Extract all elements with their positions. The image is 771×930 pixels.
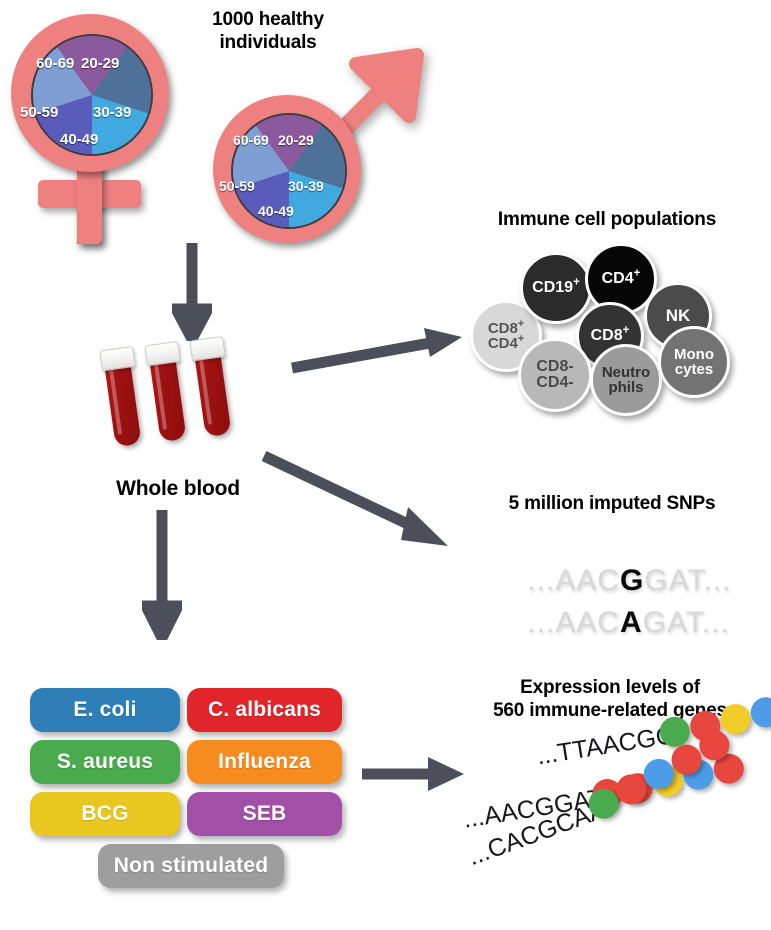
cell-label-line2: CD4- <box>536 375 573 391</box>
immune-cell-cd8neg-cd4neg: CD8-CD4- <box>518 338 592 412</box>
male-pie-label-50-59: 50-59 <box>219 178 255 194</box>
immune-cell-neutrophils: Neutrophils <box>590 344 662 416</box>
whole-blood-label: Whole blood <box>88 476 268 502</box>
immune-cells-cluster: CD8+CD4+ CD19+ CD4+ NK CD8+ CD8-CD4- Neu… <box>460 240 760 420</box>
snp-variant-allele: A <box>620 606 643 639</box>
female-pie-label-50-59: 50-59 <box>20 104 58 121</box>
snps-heading: 5 million imputed SNPs <box>462 492 762 515</box>
snp-suffix: GAT... <box>643 606 730 639</box>
blood-tube <box>147 341 193 444</box>
female-pie-label-20-29: 20-29 <box>81 55 119 72</box>
whole-blood-tubes <box>108 335 258 455</box>
arrow-down-icon <box>172 243 212 341</box>
cell-label: CD4+ <box>602 271 641 287</box>
arrow-right-icon <box>360 750 470 800</box>
arrow-blood-to-snps <box>262 450 462 560</box>
arrow-right-down-icon <box>262 450 462 560</box>
arrow-blood-to-stimuli <box>142 510 182 640</box>
arrow-right-up-icon <box>290 320 470 380</box>
immune-cells-heading: Immune cell populations <box>452 208 762 231</box>
cohort-title: 1000 healthy individuals <box>178 8 358 54</box>
blood-tube <box>192 336 238 439</box>
cell-label-line1: CD8- <box>536 359 573 375</box>
female-pie-label-60-69: 60-69 <box>36 55 74 72</box>
snp-row: ...AACAGAT... <box>490 572 730 674</box>
male-gender-symbol: 20-29 30-39 40-49 50-59 60-69 <box>205 50 425 245</box>
cell-label-line1: Mono <box>674 347 714 362</box>
mrna-strands: ...TTAACGG ...AACGGAT ...CACGCAA <box>460 740 771 910</box>
arrow-blood-to-immune-cells <box>290 320 470 380</box>
stimuli-panel: E. coli C. albicans S. aureus Influenza … <box>30 688 340 898</box>
stimulus-pill-influenza[interactable]: Influenza <box>187 740 342 784</box>
stimulus-pill-c-albicans[interactable]: C. albicans <box>187 688 342 732</box>
male-pie-label-20-29: 20-29 <box>278 132 314 148</box>
male-pie-label-60-69: 60-69 <box>233 132 269 148</box>
immune-cell-monocytes: Monocytes <box>658 326 730 398</box>
snp-sequences: ...AACGGAT... ...AACAGAT... <box>480 528 760 618</box>
snp-prefix: ...AAC <box>527 606 620 639</box>
male-pie-label-40-49: 40-49 <box>258 203 294 219</box>
female-gender-symbol: 20-29 30-39 40-49 50-59 60-69 <box>8 14 198 246</box>
stimulus-pill-non-stimulated[interactable]: Non stimulated <box>98 844 284 888</box>
cell-label-line2: CD4+ <box>488 336 524 351</box>
stimulus-pill-e-coli[interactable]: E. coli <box>30 688 180 732</box>
stimulus-pill-seb[interactable]: SEB <box>187 792 342 836</box>
female-pie-label-40-49: 40-49 <box>60 131 98 148</box>
immune-cell-cd19pos: CD19+ <box>520 252 592 324</box>
male-pie-label-30-39: 30-39 <box>288 178 324 194</box>
arrow-down-icon <box>142 510 182 640</box>
cell-label-line2: cytes <box>674 362 714 377</box>
cell-label: CD19+ <box>532 280 580 296</box>
cell-label: NK <box>666 307 691 324</box>
expression-heading: Expression levels of 560 immune-related … <box>455 676 765 722</box>
female-pie-label-30-39: 30-39 <box>93 104 131 121</box>
cell-label-line1: Neutro <box>602 365 650 380</box>
expression-heading-line1: Expression levels of <box>455 676 765 699</box>
cell-label: CD8+ <box>591 328 630 344</box>
blood-tube <box>102 346 148 449</box>
stimulus-pill-s-aureus[interactable]: S. aureus <box>30 740 180 784</box>
stimulus-pill-bcg[interactable]: BCG <box>30 792 180 836</box>
cell-label-line2: phils <box>602 380 650 395</box>
cohort-title-line1: 1000 healthy <box>178 8 358 31</box>
arrow-cohort-to-blood <box>172 243 212 341</box>
arrow-stimuli-to-expression <box>360 750 470 800</box>
